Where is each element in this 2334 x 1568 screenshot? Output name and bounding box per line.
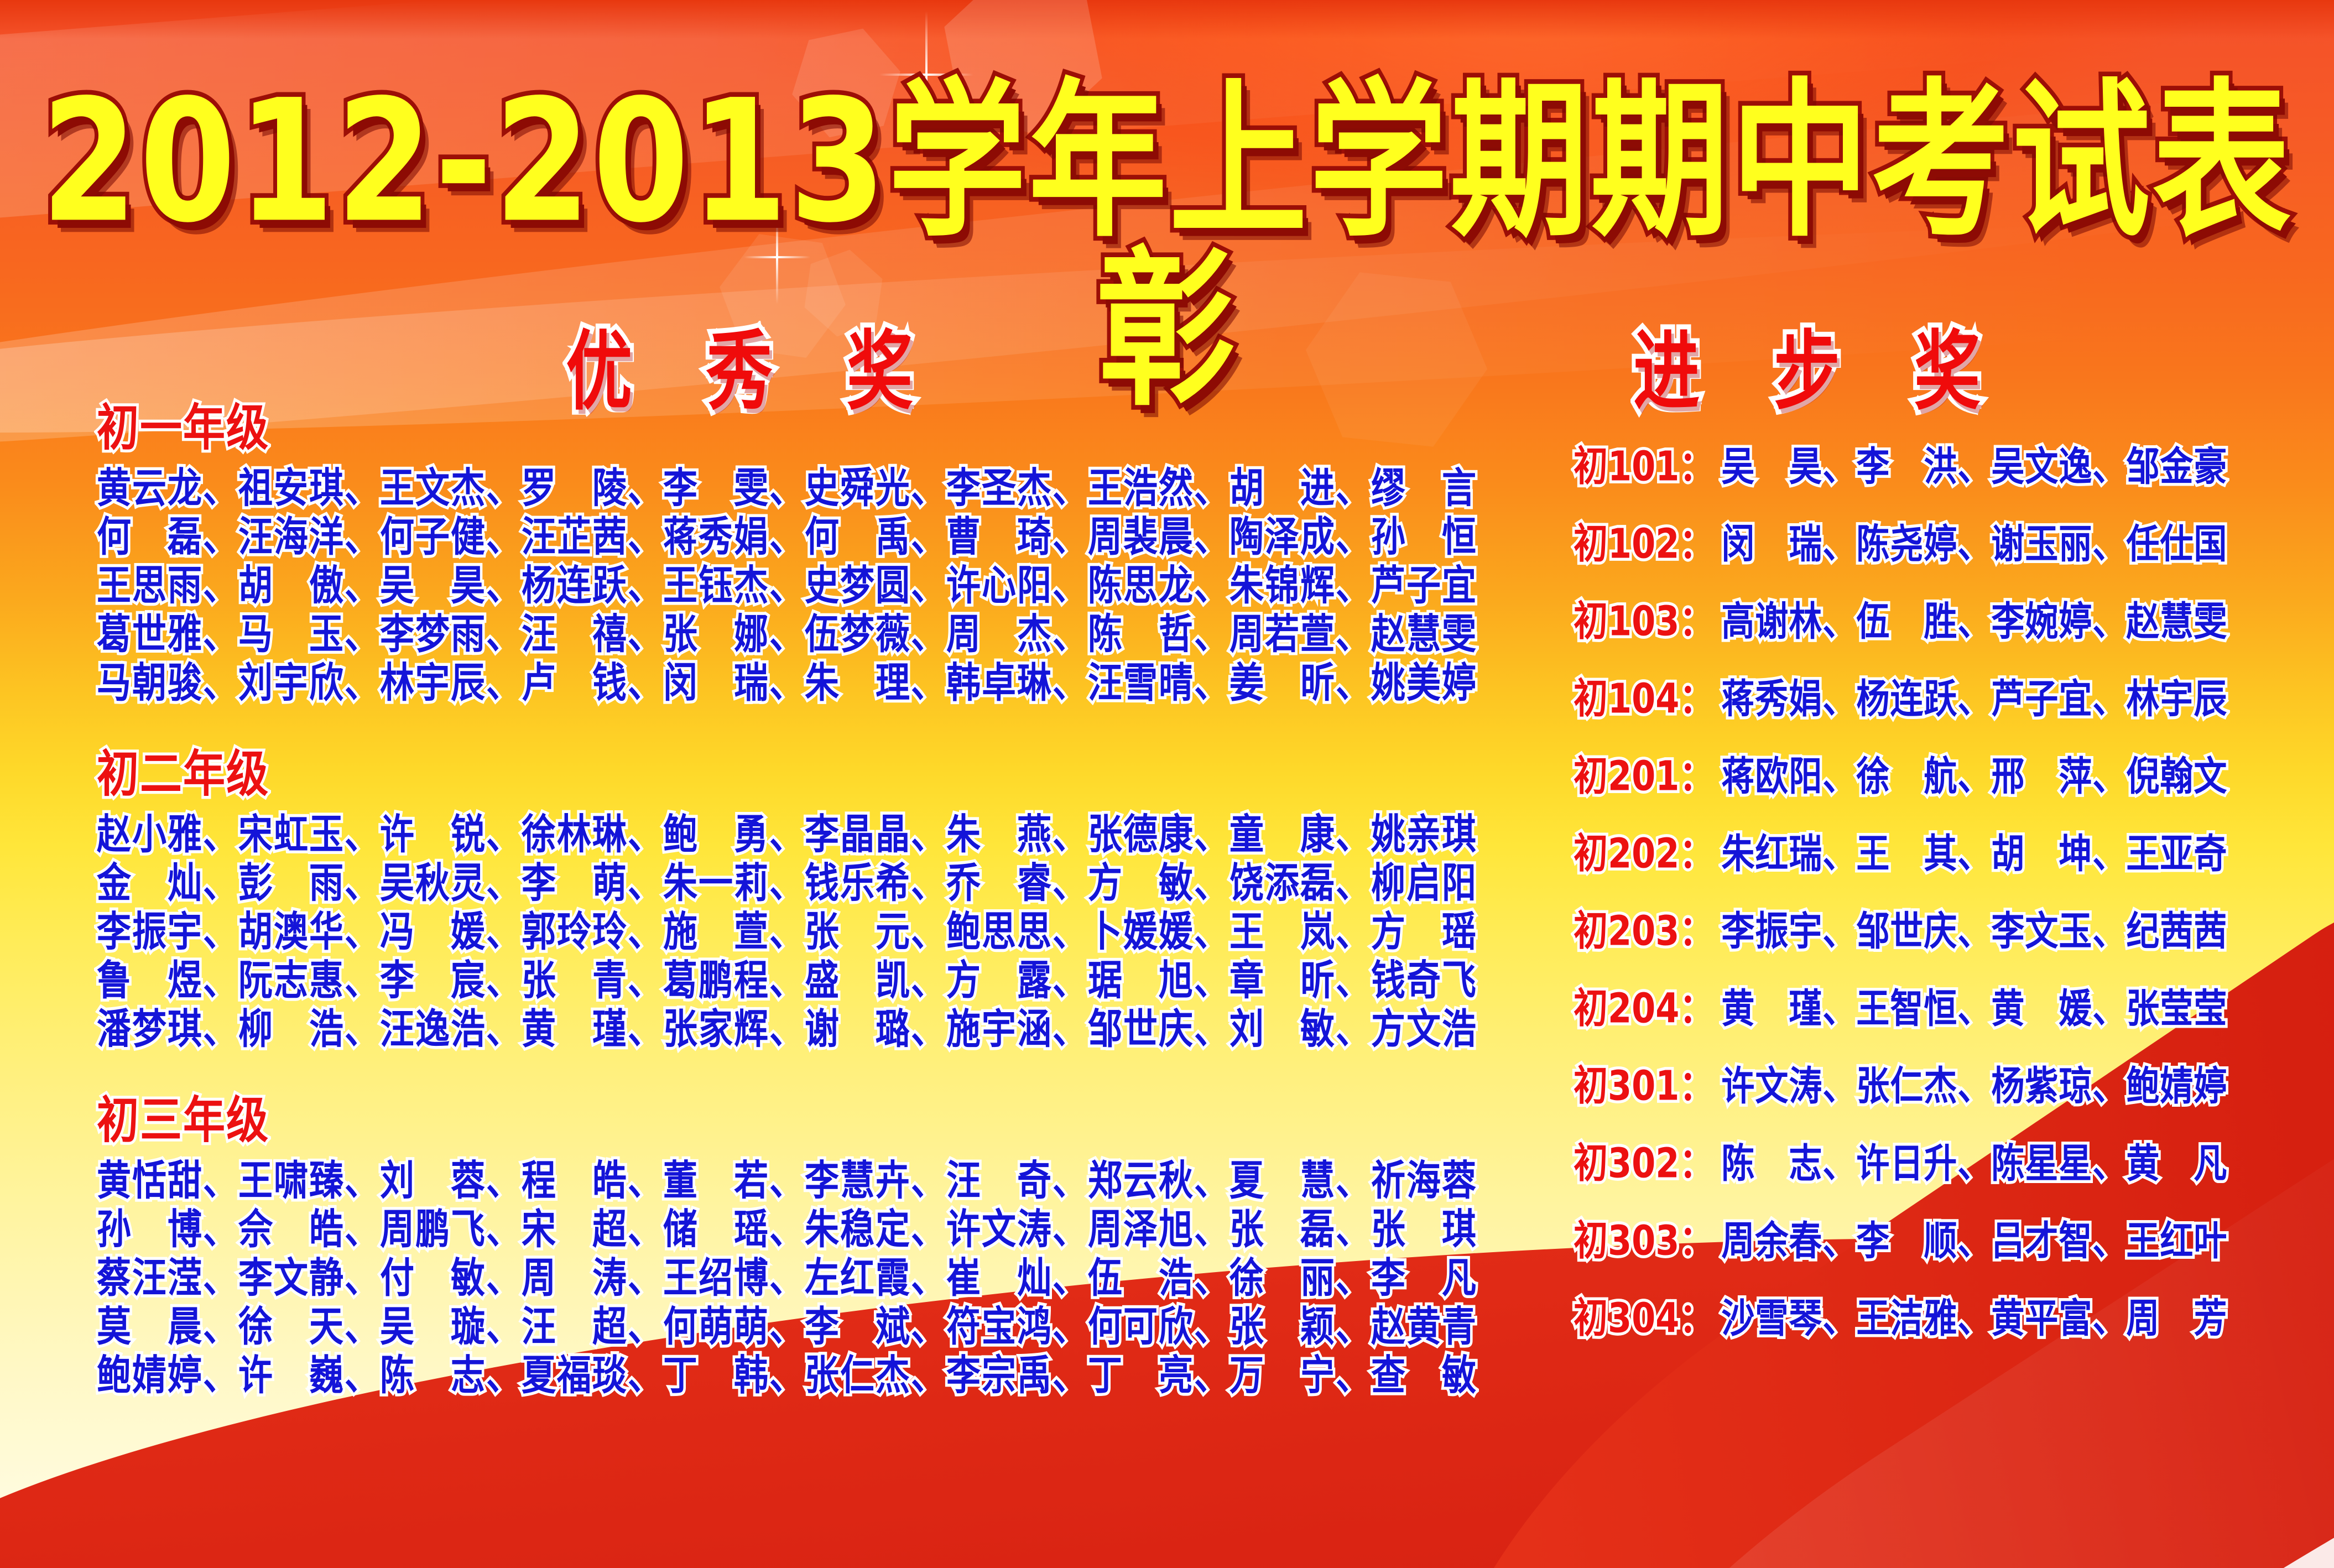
ribbon-white-stripe (1456, 1406, 2334, 1568)
class-row: 初102： 闵 瑞、陈尧婷、谢玉丽、任仕国 (1574, 520, 2309, 570)
excellent-award-column: 初一年级 黄云龙、祖安琪、王文杰、罗 陵、李 雯、史舜光、李圣杰、王浩然、胡 进… (97, 387, 1491, 1426)
class-label: 初304： (1574, 1284, 1713, 1344)
class-label: 初103： (1574, 587, 1713, 647)
top-red-cap-decoration (0, 0, 2334, 39)
progress-award-column: 初101： 吴 昊、李 洪、吴文逸、邹金豪 初102： 闵 瑞、陈尧婷、谢玉丽、… (1574, 442, 2309, 1372)
class-names: 陈 志、许日升、陈星星、黄 凡 (1721, 1132, 2227, 1189)
class-label: 初104： (1574, 665, 1713, 725)
class-label: 初204： (1574, 975, 1713, 1034)
class-names: 周余春、李 顺、吕才智、王红叶 (1721, 1209, 2227, 1267)
class-row: 初201： 蒋欧阳、徐 航、邢 萍、倪翰文 (1574, 752, 2309, 802)
class-label: 初302： (1574, 1129, 1713, 1189)
excellent-award-heading: 优 秀 奖 (531, 301, 973, 426)
name-row: 马朝骏、刘宇欣、林宇辰、卢 钱、闵 瑞、朱 理、韩卓琳、汪雪晴、姜 昕、姚美婷 (97, 654, 1491, 712)
class-row: 初301： 许文涛、张仁杰、杨紫琼、鲍婧婷 (1574, 1062, 2309, 1112)
progress-award-heading: 进 步 奖 (1571, 301, 2069, 426)
class-names: 李振宇、邹世庆、李文玉、纪茜茜 (1721, 899, 2227, 957)
class-row: 初202： 朱红瑞、王 其、胡 坤、王亚奇 (1574, 830, 2309, 879)
class-label: 初301： (1574, 1052, 1713, 1112)
class-names: 吴 昊、李 洪、吴文逸、邹金豪 (1721, 435, 2227, 492)
class-row: 初101： 吴 昊、李 洪、吴文逸、邹金豪 (1574, 442, 2309, 492)
class-label: 初202： (1574, 820, 1713, 879)
class-names: 黄 瑾、王智恒、黄 媛、张莹莹 (1721, 977, 2227, 1034)
class-label: 初203： (1574, 897, 1713, 957)
class-names: 高谢林、伍 胜、李婉婷、赵慧雯 (1721, 590, 2227, 647)
class-names: 蒋秀娟、杨连跃、芦子宜、林宇辰 (1721, 667, 2227, 725)
poster-canvas: 2012-2013学年上学期期中考试表彰 优 秀 奖 进 步 奖 初一年级 黄云… (0, 0, 2334, 1568)
class-names: 朱红瑞、王 其、胡 坤、王亚奇 (1721, 822, 2227, 879)
class-names: 许文涛、张仁杰、杨紫琼、鲍婧婷 (1721, 1054, 2227, 1112)
class-label: 初101： (1574, 433, 1713, 492)
class-row: 初104： 蒋秀娟、杨连跃、芦子宜、林宇辰 (1574, 675, 2309, 725)
name-row: 鲍婧婷、许 巍、陈 志、夏福琰、丁 韩、张仁杰、李宗禹、丁 亮、万 宁、查 敏 (97, 1346, 1491, 1405)
class-label: 初201： (1574, 742, 1713, 802)
class-names: 蒋欧阳、徐 航、邢 萍、倪翰文 (1721, 744, 2227, 802)
class-row: 初204： 黄 瑾、王智恒、黄 媛、张莹莹 (1574, 984, 2309, 1034)
name-row: 潘梦琪、柳 浩、汪逸浩、黄 瑾、张家辉、谢 璐、施宇涵、邹世庆、刘 敏、方文浩 (97, 1000, 1491, 1059)
grade-title: 初二年级 (97, 733, 269, 805)
class-row: 初304： 沙雪琴、王洁雅、黄平富、周 芳 (1574, 1294, 2309, 1344)
class-names: 沙雪琴、王洁雅、黄平富、周 芳 (1721, 1286, 2227, 1344)
class-row: 初302： 陈 志、许日升、陈星星、黄 凡 (1574, 1139, 2309, 1189)
grade-title: 初三年级 (97, 1080, 269, 1152)
class-row: 初203： 李振宇、邹世庆、李文玉、纪茜茜 (1574, 907, 2309, 957)
class-names: 闵 瑞、陈尧婷、谢玉丽、任仕国 (1721, 512, 2227, 570)
grade-block-2: 初二年级 赵小雅、宋虹玉、许 锐、徐林琳、鲍 勇、李晶晶、朱 燕、张德康、童 康… (97, 733, 1491, 1049)
grade-block-1: 初一年级 黄云龙、祖安琪、王文杰、罗 陵、李 雯、史舜光、李圣杰、王浩然、胡 进… (97, 387, 1491, 702)
class-row: 初303： 周余春、李 顺、吕才智、王红叶 (1574, 1217, 2309, 1267)
grade-block-3: 初三年级 黄恬甜、王啸臻、刘 蓉、程 皓、董 若、李慧卉、汪 奇、郑云秋、夏 慧… (97, 1080, 1491, 1395)
class-row: 初103： 高谢林、伍 胜、李婉婷、赵慧雯 (1574, 597, 2309, 647)
class-label: 初102： (1574, 510, 1713, 570)
class-label: 初303： (1574, 1207, 1713, 1267)
